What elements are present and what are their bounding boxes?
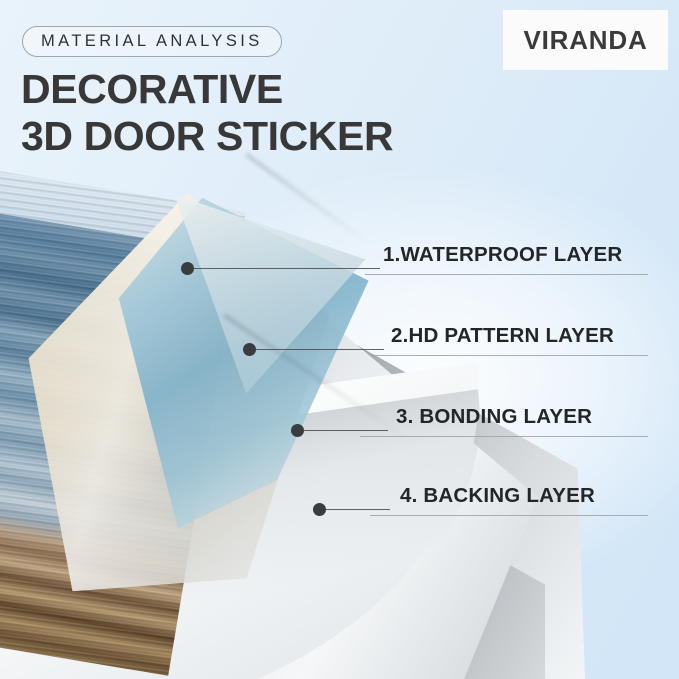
callout-rule-2 [372,355,648,356]
page-title-line-1: DECORATIVE [21,66,451,113]
page-title: DECORATIVE 3D DOOR STICKER [21,66,451,160]
callout-rule-3 [360,436,648,437]
brand-logo-box: VIRANDA [503,10,668,70]
brand-name: VIRANDA [523,25,647,56]
leader-line-3 [304,430,388,431]
leader-dot-1 [181,262,194,275]
callout-label-4: 4. BACKING LAYER [400,484,595,508]
callout-label-1: 1.WATERPROOF LAYER [383,243,622,267]
callout-rule-4 [370,515,648,516]
leader-line-2 [256,349,384,350]
leader-line-4 [326,509,390,510]
leader-line-1 [194,268,380,269]
callout-rule-1 [365,274,648,275]
leader-dot-3 [291,424,304,437]
page-title-line-2: 3D DOOR STICKER [21,113,451,160]
eyebrow-pill: MATERIAL ANALYSIS [22,26,282,57]
leader-dot-4 [313,503,326,516]
leader-dot-2 [243,343,256,356]
callout-label-3: 3. BONDING LAYER [396,405,592,429]
eyebrow-label: MATERIAL ANALYSIS [41,32,263,51]
callout-label-2: 2.HD PATTERN LAYER [391,324,614,348]
poster-canvas: 1.WATERPROOF LAYER 2.HD PATTERN LAYER 3.… [0,0,679,679]
